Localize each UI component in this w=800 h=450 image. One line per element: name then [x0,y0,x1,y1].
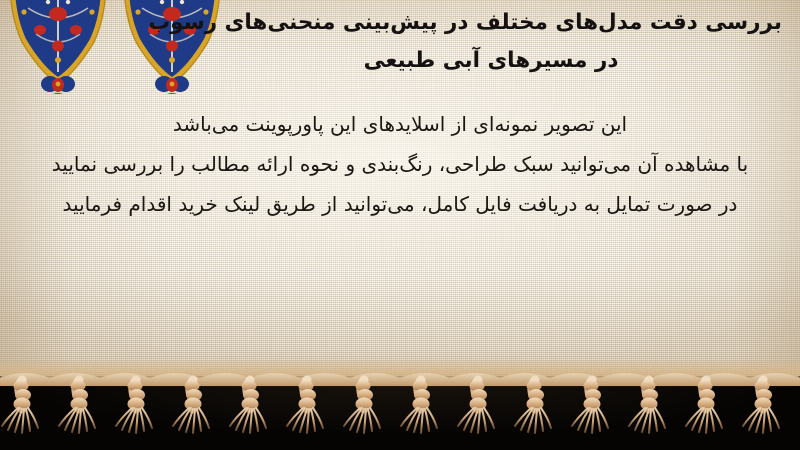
body-line-1: این تصویر نمونه‌ای از اسلایدهای این پاور… [22,104,778,144]
slide-title: بررسی دقت مدل‌های مختلف در پیش‌بینی منحن… [200,4,782,80]
title-line-2: در مسیرهای آبی طبیعی [200,42,782,80]
body-line-3: در صورت تمایل به دریافت فایل کامل، می‌تو… [22,184,778,224]
title-line-1: بررسی دقت مدل‌های مختلف در پیش‌بینی منحن… [200,4,782,42]
slide-text-layer: بررسی دقت مدل‌های مختلف در پیش‌بینی منحن… [0,0,800,378]
carpet-fringe-tassel-border [0,352,800,450]
slide-body: این تصویر نمونه‌ای از اسلایدهای این پاور… [22,104,778,224]
body-line-2: با مشاهده آن می‌توانید سبک طراحی، رنگ‌بن… [22,144,778,184]
slide-canvas: بررسی دقت مدل‌های مختلف در پیش‌بینی منحن… [0,0,800,450]
